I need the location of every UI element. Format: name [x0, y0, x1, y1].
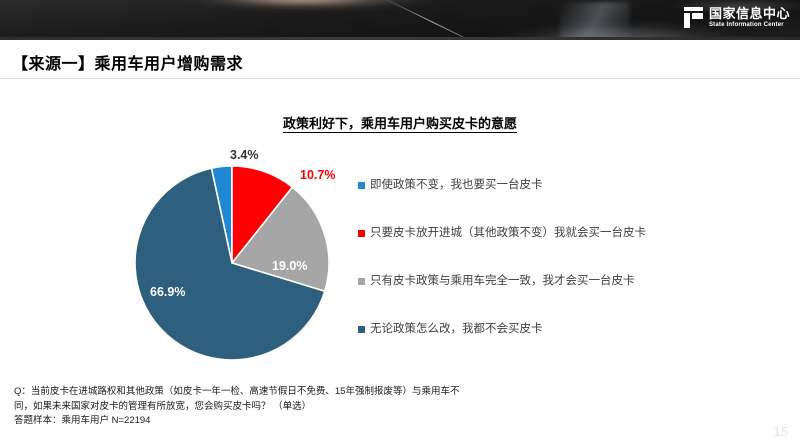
pie-chart-svg: [122, 163, 342, 363]
pie-label-3-4: 3.4%: [230, 148, 259, 162]
legend-label-0: 即使政策不变，我也要买一台皮卡: [370, 178, 543, 193]
footnote: Q：当前皮卡在进城路权和其他政策（如皮卡一年一检、高速节假日不免费、15年强制报…: [14, 385, 774, 429]
legend-item-1[interactable]: 只要皮卡放开进城（其他政策不变）我就会买一台皮卡: [358, 226, 778, 274]
legend-label-2: 只有皮卡政策与乘用车完全一致，我才会买一台皮卡: [370, 274, 635, 289]
footnote-line-1: Q：当前皮卡在进城路权和其他政策（如皮卡一年一检、高速节假日不免费、15年强制报…: [14, 385, 774, 400]
grid-mark-icon: [684, 7, 703, 28]
logo-name-cn: 国家信息中心: [709, 7, 790, 20]
footnote-line-2: 同，如果未来国家对皮卡的管理有所放宽，您会购买皮卡吗？ （单选）: [14, 400, 774, 415]
title-divider: [0, 78, 800, 79]
pie-label-19-0: 19.0%: [272, 259, 307, 273]
legend-label-3: 无论政策怎么改，我都不会买皮卡: [370, 322, 543, 337]
footnote-line-3: 答题样本：乘用车用户 N=22194: [14, 414, 774, 429]
legend-item-0[interactable]: 即使政策不变，我也要买一台皮卡: [358, 178, 778, 226]
organization-logo: 国家信息中心 State Information Center: [684, 7, 790, 28]
logo-text: 国家信息中心 State Information Center: [709, 7, 790, 28]
legend-swatch-icon-2: [358, 278, 365, 285]
logo-name-en: State Information Center: [709, 22, 790, 28]
page-number: 15: [774, 424, 788, 439]
pie-label-10-7: 10.7%: [300, 168, 335, 182]
legend-item-2[interactable]: 只有皮卡政策与乘用车完全一致，我才会买一台皮卡: [358, 274, 778, 322]
banner-light-streak: [380, 0, 497, 40]
banner-highlight: [180, 0, 440, 10]
legend-item-3[interactable]: 无论政策怎么改，我都不会买皮卡: [358, 322, 778, 370]
banner-bottom-edge: [0, 37, 800, 40]
pie-label-66-9: 66.9%: [150, 285, 185, 299]
pie-chart: 3.4% 10.7% 19.0% 66.9%: [122, 163, 342, 363]
legend-swatch-icon-0: [358, 182, 365, 189]
chart-legend: 即使政策不变，我也要买一台皮卡 只要皮卡放开进城（其他政策不变）我就会买一台皮卡…: [358, 178, 778, 370]
chart-title-text: 政策利好下，乘用车用户购买皮卡的意愿: [283, 116, 517, 133]
chart-title: 政策利好下，乘用车用户购买皮卡的意愿: [0, 113, 800, 132]
legend-label-1: 只要皮卡放开进城（其他政策不变）我就会买一台皮卡: [370, 226, 646, 241]
legend-swatch-icon-1: [358, 230, 365, 237]
legend-swatch-icon-3: [358, 326, 365, 333]
banner-light-glow: [560, 2, 630, 40]
header-banner: 国家信息中心 State Information Center: [0, 0, 800, 40]
page-title: 【来源一】乘用车用户增购需求: [12, 50, 243, 74]
